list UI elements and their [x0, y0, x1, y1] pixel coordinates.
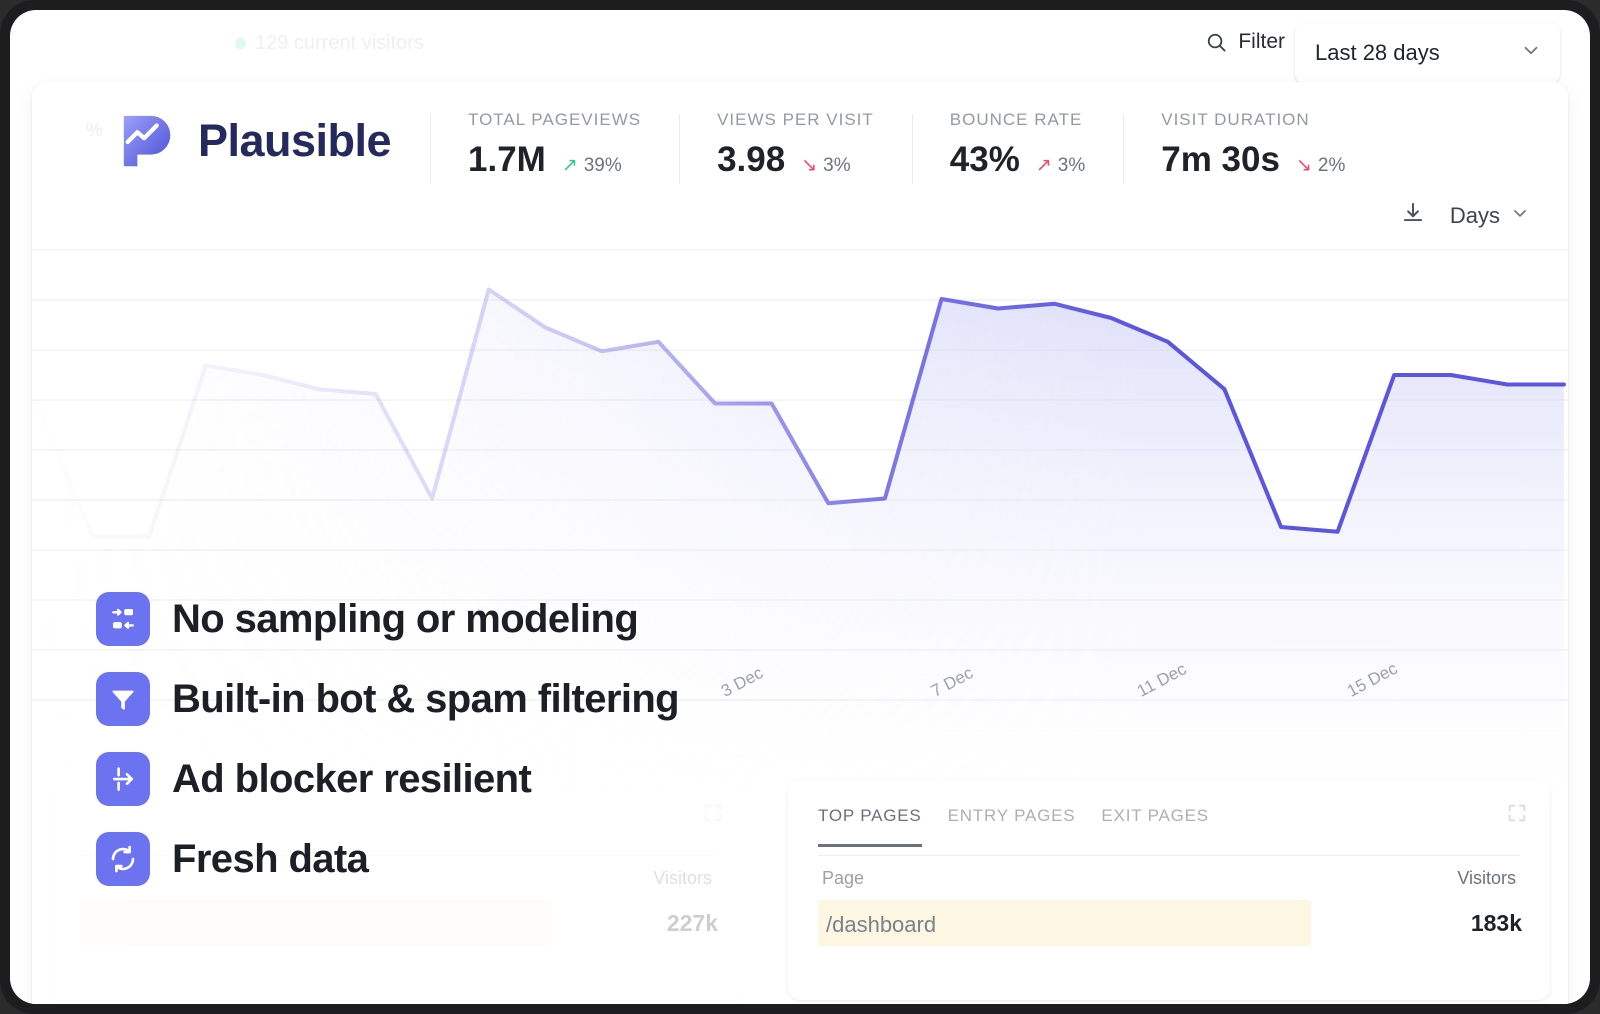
arrow-through-barrier-icon — [96, 752, 150, 806]
funnel-filter-icon — [96, 672, 150, 726]
trend-up-icon: ↗ — [1036, 156, 1052, 175]
feature-label: Fresh data — [172, 837, 368, 882]
refresh-sync-icon — [96, 832, 150, 886]
metric-label: VIEWS PER VISIT — [717, 110, 874, 130]
date-range-select[interactable]: Last 28 days — [1295, 23, 1560, 83]
table-row[interactable]: 227k — [80, 900, 718, 946]
metric-value: 1.7M — [468, 140, 546, 180]
row-bar — [80, 900, 552, 946]
top-bar: 129 current visitors Filter Last 28 days — [10, 10, 1590, 88]
metric-value: 3.98 — [717, 140, 785, 180]
data-transfer-icon — [96, 592, 150, 646]
live-dot-icon — [235, 38, 246, 49]
graph-toolbar: Days — [1400, 200, 1530, 231]
metric-change: ↗ 3% — [1036, 155, 1085, 177]
device-bezel: 129 current visitors Filter Last 28 days — [0, 0, 1600, 1014]
plausible-logo-icon — [118, 110, 180, 172]
metric-change-value: 3% — [1058, 155, 1085, 177]
row-visitors: 183k — [1471, 910, 1522, 937]
current-visitors-label: 129 current visitors — [255, 32, 424, 55]
expand-icon[interactable] — [702, 802, 724, 829]
metric-views-per-visit[interactable]: VIEWS PER VISIT 3.98 ↘ 3% — [679, 110, 912, 180]
metric-visit-duration[interactable]: VISIT DURATION 7m 30s ↘ 2% — [1123, 110, 1383, 180]
date-range-value: Last 28 days — [1315, 40, 1440, 66]
feature-ad-blocker-resilient: Ad blocker resilient — [96, 752, 679, 806]
pages-panel[interactable]: TOP PAGES ENTRY PAGES EXIT PAGES Page Vi… — [788, 780, 1550, 1000]
table-row[interactable]: /dashboard 183k — [818, 900, 1522, 946]
tab-top-pages[interactable]: TOP PAGES — [818, 806, 922, 847]
download-icon[interactable] — [1400, 200, 1426, 231]
filter-button[interactable]: Filter — [1205, 30, 1285, 54]
interval-select[interactable]: Days — [1450, 203, 1530, 229]
interval-value: Days — [1450, 203, 1500, 229]
feature-label: Built-in bot & spam filtering — [172, 677, 679, 722]
app-screen: 129 current visitors Filter Last 28 days — [10, 10, 1590, 1004]
metric-change-value: 2% — [1318, 155, 1345, 177]
metric-bounce-rate[interactable]: BOUNCE RATE 43% ↗ 3% — [912, 110, 1123, 180]
expand-icon[interactable] — [1506, 802, 1528, 829]
panel-divider — [818, 855, 1520, 856]
search-icon — [1205, 31, 1228, 54]
current-visitors-indicator: 129 current visitors — [235, 32, 424, 55]
metric-change-value: 39% — [584, 155, 622, 177]
metric-change: ↘ 2% — [1296, 155, 1345, 177]
feature-no-sampling: No sampling or modeling — [96, 592, 679, 646]
column-header-page: Page — [822, 868, 864, 889]
feature-fresh-data: Fresh data — [96, 832, 679, 886]
metric-label: VISIT DURATION — [1161, 110, 1345, 130]
column-header-visitors: Visitors — [1457, 868, 1516, 889]
filter-label: Filter — [1238, 30, 1285, 54]
metric-value: 7m 30s — [1161, 140, 1280, 180]
chevron-down-icon — [1520, 39, 1542, 67]
chevron-down-icon — [1510, 203, 1530, 229]
metric-label: TOTAL PAGEVIEWS — [468, 110, 641, 130]
metric-change: ↗ 39% — [562, 155, 622, 177]
feature-label: No sampling or modeling — [172, 597, 638, 642]
feature-bot-filtering: Built-in bot & spam filtering — [96, 672, 679, 726]
tab-entry-pages[interactable]: ENTRY PAGES — [948, 806, 1076, 847]
metric-change-value: 3% — [823, 155, 850, 177]
trend-up-icon: ↗ — [562, 156, 578, 175]
pages-panel-tabs: TOP PAGES ENTRY PAGES EXIT PAGES — [818, 806, 1209, 847]
tab-exit-pages[interactable]: EXIT PAGES — [1101, 806, 1209, 847]
metric-value: 43% — [950, 140, 1020, 180]
feature-list: No sampling or modeling Built-in bot & s… — [96, 592, 679, 886]
metric-change: ↘ 3% — [801, 155, 850, 177]
row-page: /dashboard — [826, 912, 936, 938]
brand-name: Plausible — [198, 115, 391, 167]
metric-label: BOUNCE RATE — [950, 110, 1085, 130]
metric-total-pageviews[interactable]: TOTAL PAGEVIEWS 1.7M ↗ 39% — [430, 110, 679, 180]
metric-change: % — [86, 120, 103, 142]
feature-label: Ad blocker resilient — [172, 757, 531, 802]
brand-logo[interactable]: Plausible — [118, 110, 391, 172]
trend-down-icon: ↘ — [801, 156, 817, 175]
trend-down-icon: ↘ — [1296, 156, 1312, 175]
row-visitors: 227k — [667, 910, 718, 937]
